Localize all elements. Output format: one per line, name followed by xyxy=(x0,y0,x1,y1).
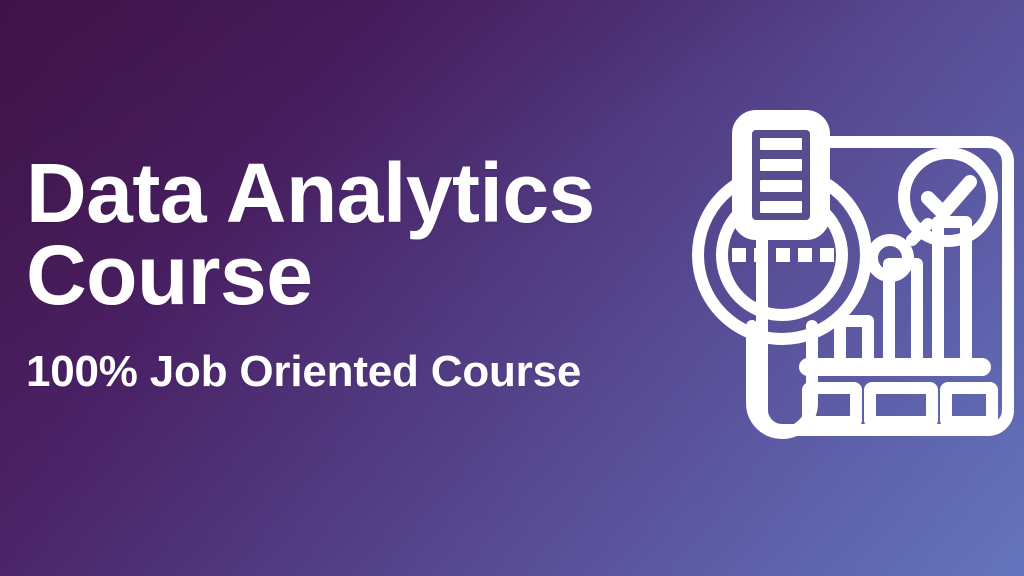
document-list-row-2 xyxy=(760,159,802,171)
banner-text-block: Data Analytics Course 100% Job Oriented … xyxy=(26,152,595,397)
document-list-row-1 xyxy=(760,138,802,150)
legend-box-2 xyxy=(870,388,932,422)
page-title: Data Analytics Course xyxy=(26,152,595,317)
course-banner: Data Analytics Course 100% Job Oriented … xyxy=(0,0,1024,576)
check-mark-icon xyxy=(928,182,970,213)
bar-chart-bar-2 xyxy=(889,264,917,362)
document-list-card-outer xyxy=(742,120,820,230)
page-subtitle: 100% Job Oriented Course xyxy=(26,347,595,397)
page-title-line-1: Data Analytics xyxy=(26,146,595,240)
bar-chart-bar-1 xyxy=(840,321,868,362)
data-analytics-illustration xyxy=(690,100,1020,450)
document-list-row-4 xyxy=(760,201,802,213)
dashed-divider xyxy=(732,248,834,262)
document-list-row-3 xyxy=(760,180,802,192)
legend-box-3 xyxy=(946,388,992,422)
page-title-line-2: Course xyxy=(26,234,595,316)
